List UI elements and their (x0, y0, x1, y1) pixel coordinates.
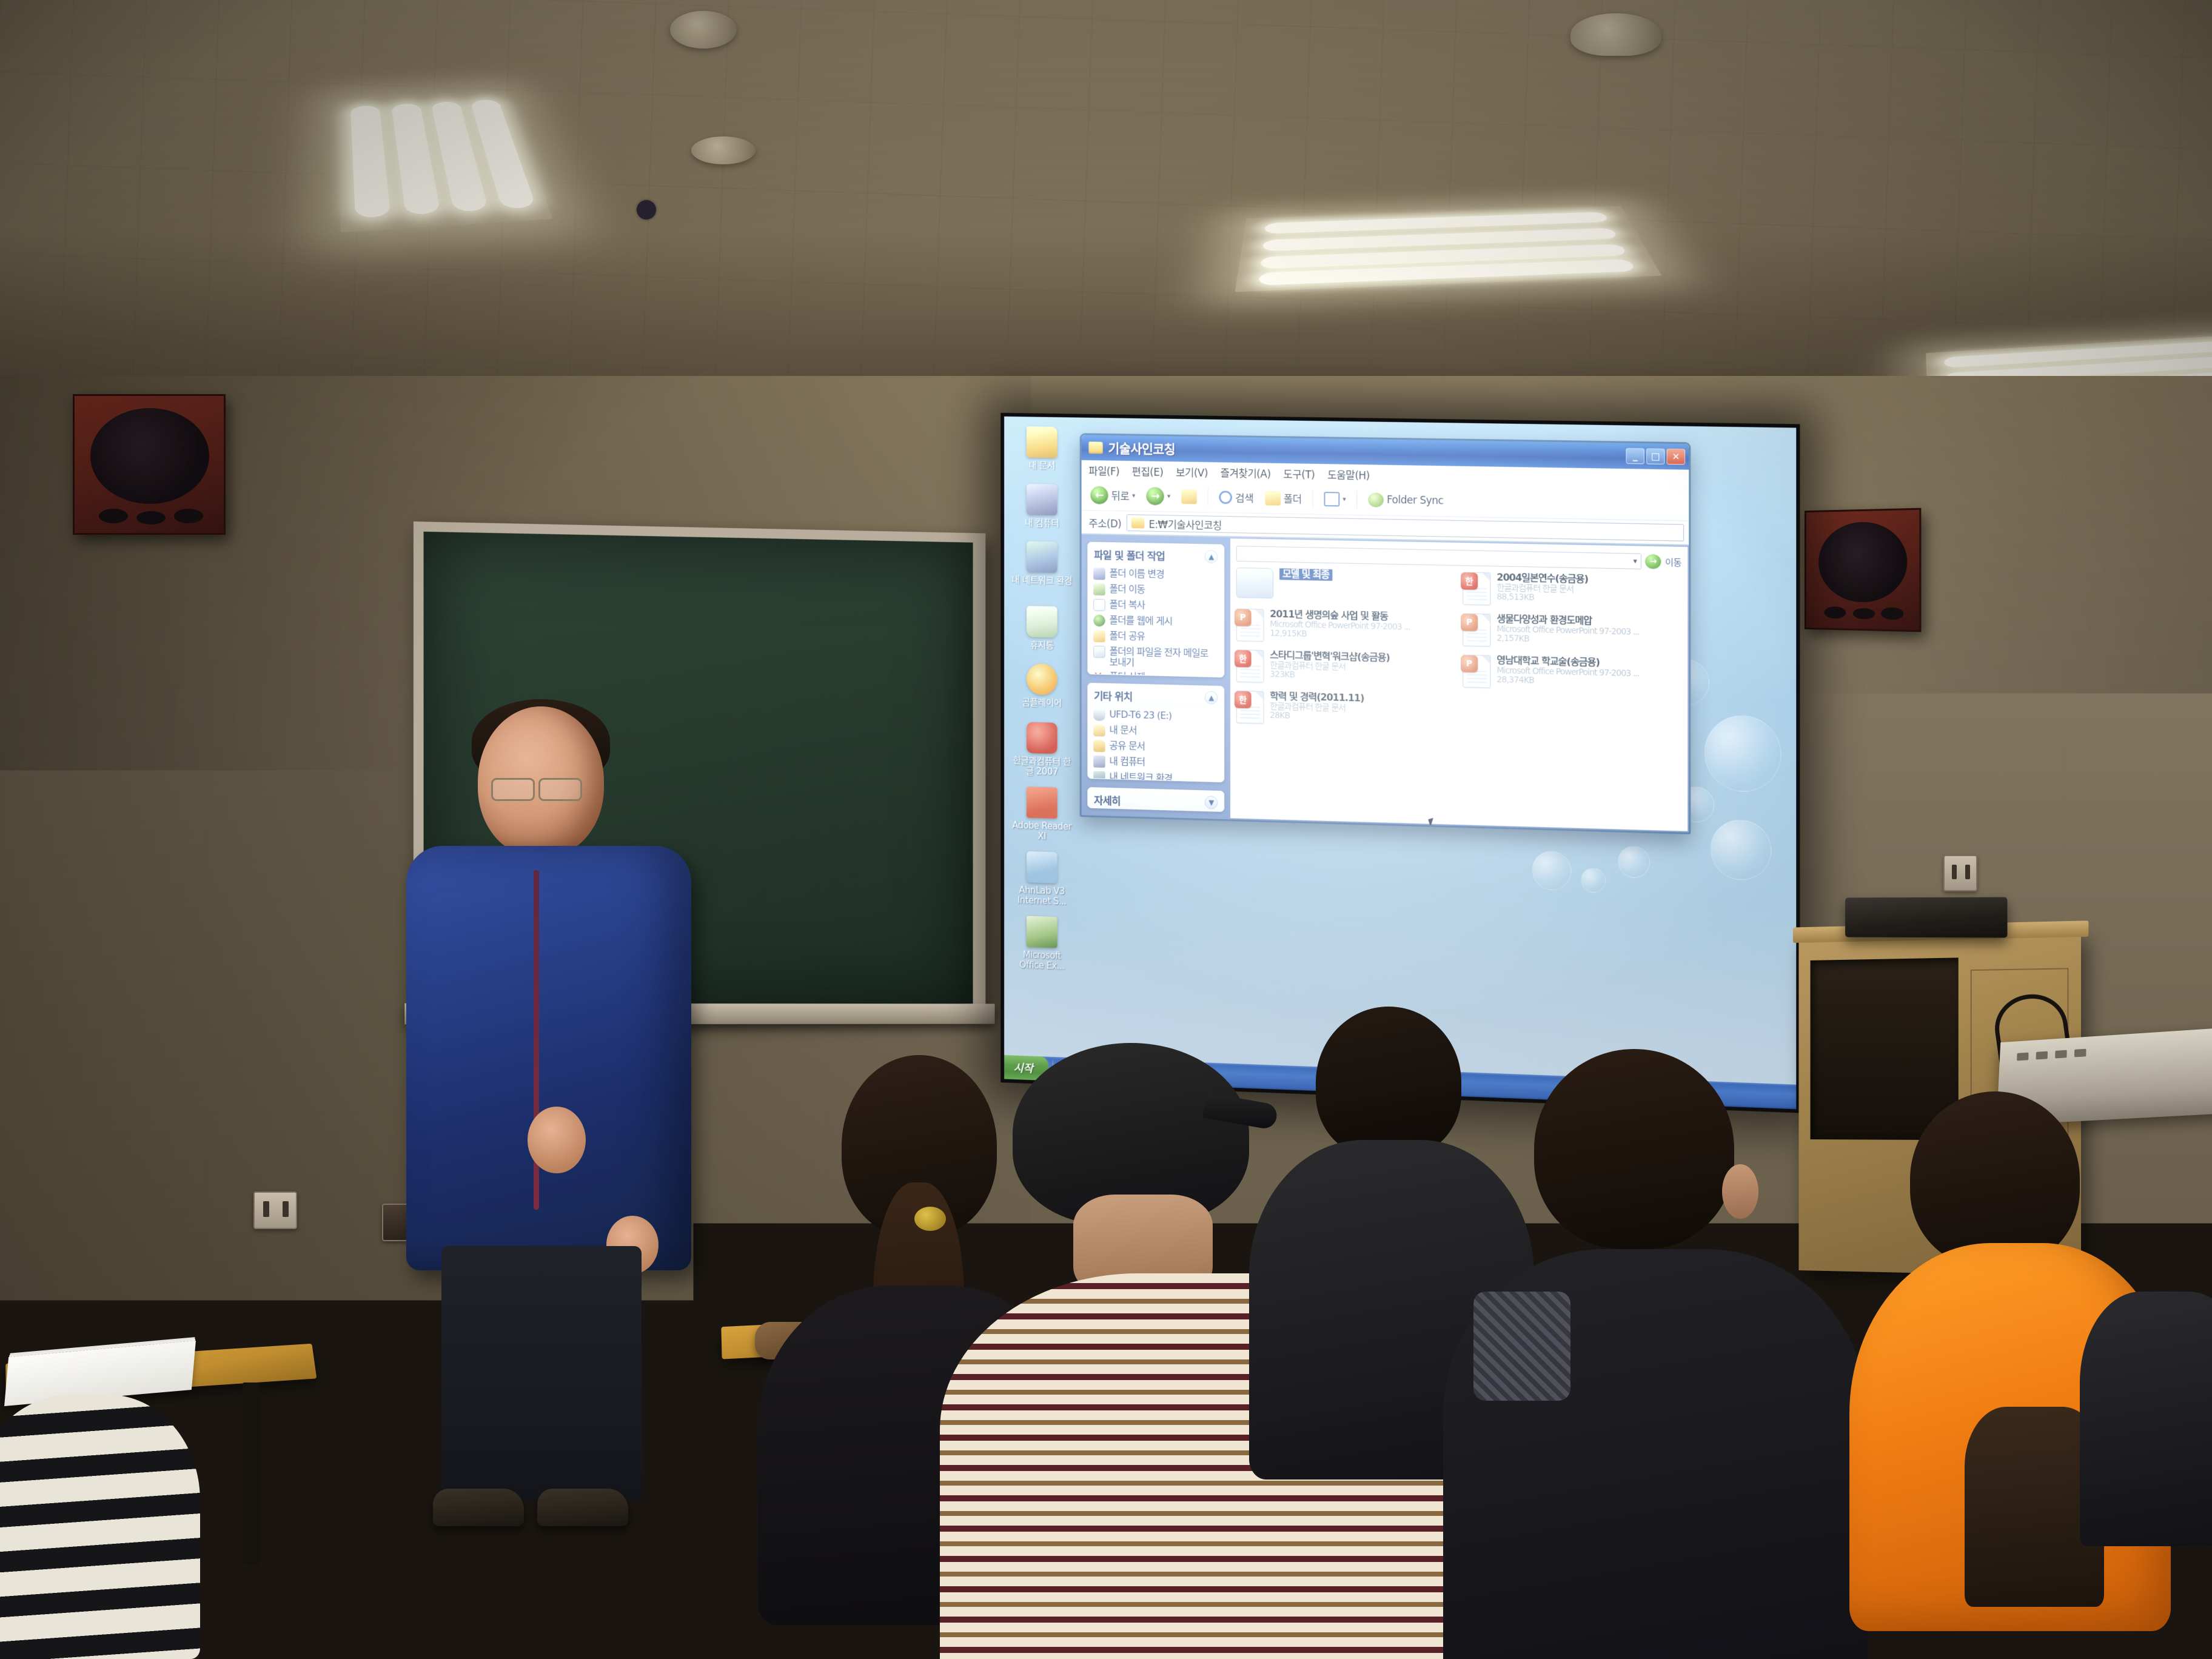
address-value: E:₩기술사인코칭 (1148, 515, 1222, 532)
ceiling-vent-icon (691, 136, 756, 164)
presenter-jacket (406, 846, 691, 1270)
file-item[interactable]: 한 2004일본연수(송금용) 한글과컴퓨터 한글 문서 88,513KB (1463, 572, 1681, 609)
desktop-icon-my-computer[interactable]: 내 컴퓨터 (1010, 483, 1074, 529)
maximize-button[interactable]: □ (1646, 448, 1665, 464)
copy-folder-icon (1093, 599, 1105, 611)
file-item-folder[interactable]: 모델 및 최종 (1236, 568, 1452, 605)
ahnlab-v3-icon (1027, 851, 1057, 883)
start-label: 시작 (1014, 1059, 1033, 1076)
other-places-panel: 기타 위치 ▲ UFD-T6 23 (E:) (1087, 683, 1224, 782)
task-delete-folder[interactable]: ✕ 폴더 삭제 (1093, 671, 1218, 677)
left-wall-speaker (73, 394, 226, 535)
path-combo[interactable]: ▾ (1236, 546, 1641, 569)
right-wall-speaker (1805, 508, 1921, 632)
student-head (1534, 1049, 1734, 1249)
presenter-shoe-left (433, 1489, 524, 1526)
removable-drive-icon (1093, 709, 1105, 721)
file-meta: 영남대학교 학교술(송금용) Microsoft Office PowerPoi… (1496, 655, 1639, 688)
up-button[interactable] (1179, 488, 1200, 506)
menu-item-help[interactable]: 도움말(H) (1327, 466, 1370, 482)
desktop-icon-adobe-reader[interactable]: Adobe Reader XI (1010, 786, 1074, 842)
file-item[interactable]: P 영남대학교 학교술(송금용) Microsoft Office PowerP… (1463, 655, 1681, 693)
laptop-on-podium (1845, 897, 2007, 938)
wall-outlet-right (1943, 855, 1977, 891)
desktop-icon-label: Microsoft Office Ex... (1019, 949, 1065, 971)
file-meta: 학력 및 경력(2011.11) 한글과컴퓨터 한글 문서 28KB (1270, 691, 1364, 723)
place-removable-drive[interactable]: UFD-T6 23 (E:) (1093, 709, 1218, 724)
panel-list: UFD-T6 23 (E:) 내 문서 공유 문서 (1088, 705, 1224, 782)
views-icon (1324, 492, 1339, 506)
desktop-icon-label: 내 문서 (1029, 460, 1055, 471)
file-meta: 스타디그룹'변혁'워크샵(송금용) 한글과컴퓨터 한글 문서 323KB (1270, 650, 1390, 682)
minimize-button[interactable]: _ (1626, 448, 1644, 464)
panel-title: 기타 위치 (1094, 688, 1132, 703)
file-item[interactable]: 한 스타디그룹'변혁'워크샵(송금용) 한글과컴퓨터 한글 문서 323KB (1236, 649, 1452, 687)
desktop-icon-label: 한글과컴퓨터 한글 2007 (1013, 755, 1071, 777)
task-label: 폴더 삭제 (1110, 671, 1145, 677)
address-label: 주소(D) (1088, 515, 1121, 531)
window-body: 파일 및 폴더 작업 ▲ 폴더 이름 변경 (1082, 534, 1689, 832)
folders-button[interactable]: 폴더 (1262, 488, 1305, 508)
details-panel: 자세히 ▼ (1087, 787, 1224, 812)
place-my-documents[interactable]: 내 문서 (1093, 724, 1218, 739)
folders-icon (1265, 491, 1281, 505)
desktop-icon-recycle-bin[interactable]: 휴지통 (1010, 606, 1074, 652)
file-size: 88,513KB (1496, 593, 1588, 604)
place-label: 내 네트워크 환경 (1110, 771, 1173, 782)
window-title: 기술사인코칭 (1108, 439, 1176, 458)
file-meta: 2011년 생명의숲 사업 및 활동 Microsoft Office Powe… (1270, 609, 1410, 642)
place-label: 공유 문서 (1110, 740, 1145, 752)
mouse-cursor-icon (1428, 818, 1436, 827)
folder-sync-icon (1368, 492, 1384, 507)
desktop-icon-my-network[interactable]: 내 네트워크 환경 (1010, 541, 1074, 586)
panel-list: 폴더 이름 변경 폴더 이동 폴더 복사 (1088, 565, 1224, 677)
projection-screen: 내 문서 내 컴퓨터 내 네트워크 환경 휴지통 곰플레이어 (1004, 417, 1796, 1109)
smoke-detector-icon (670, 11, 737, 49)
my-computer-icon (1093, 756, 1105, 768)
powerpoint-document-icon: P (1236, 609, 1264, 642)
panel-header[interactable]: 기타 위치 ▲ (1088, 683, 1224, 709)
place-label: 내 컴퓨터 (1110, 756, 1145, 767)
back-button[interactable]: ← 뒤로 ▾ (1087, 484, 1138, 506)
student-head (1910, 1091, 2080, 1267)
forward-button[interactable]: → ▾ (1144, 485, 1173, 508)
windows-desktop[interactable]: 내 문서 내 컴퓨터 내 네트워크 환경 휴지통 곰플레이어 (1004, 417, 1796, 1109)
student-torso (2080, 1292, 2212, 1546)
rename-icon (1093, 568, 1105, 580)
menu-item-edit[interactable]: 편집(E) (1132, 463, 1164, 479)
close-button[interactable]: ✕ (1667, 449, 1686, 465)
folders-label: 폴더 (1284, 491, 1302, 506)
file-size: 28KB (1270, 711, 1364, 723)
move-folder-icon (1093, 583, 1105, 595)
place-label: UFD-T6 23 (E:) (1110, 709, 1172, 721)
desktop-icon-label: 내 컴퓨터 (1025, 517, 1059, 529)
chevron-up-icon[interactable]: ▲ (1205, 550, 1218, 563)
go-arrow-icon[interactable]: → (1645, 554, 1661, 569)
task-label: 폴더 이동 (1110, 583, 1145, 595)
student-ear (1722, 1164, 1758, 1219)
menu-item-file[interactable]: 파일(F) (1088, 462, 1119, 478)
task-copy-folder[interactable]: 폴더 복사 (1093, 599, 1218, 614)
folder-icon (1088, 441, 1102, 454)
desktop-icon-hancom-hangul[interactable]: 한글과컴퓨터 한글 2007 (1010, 722, 1074, 778)
presenter-hand-right (528, 1107, 586, 1173)
student-head (1316, 1007, 1461, 1158)
my-documents-icon (1093, 724, 1105, 736)
chevron-down-icon[interactable]: ▾ (1167, 492, 1170, 500)
task-label: 폴더의 파일을 전자 메일로 보내기 (1110, 646, 1219, 670)
views-button[interactable]: ▾ (1321, 489, 1349, 508)
file-grid[interactable]: 모델 및 최종 한 2004일본연수(송금용) 한글과컴퓨 (1236, 568, 1681, 734)
desktop-icon-label: 내 네트워크 환경 (1011, 574, 1072, 586)
file-list-area[interactable]: ▾ → 이동 모델 및 최종 (1230, 538, 1687, 831)
chevron-down-icon[interactable]: ▾ (1342, 495, 1346, 503)
task-move-folder[interactable]: 폴더 이동 (1093, 583, 1218, 598)
desktop-icon-label: 휴지통 (1030, 640, 1054, 651)
file-item[interactable]: 한 학력 및 경력(2011.11) 한글과컴퓨터 한글 문서 28KB (1236, 691, 1452, 729)
search-label: 검색 (1235, 490, 1253, 505)
ceiling-marker-icon (637, 200, 656, 220)
desktop-icon-excel[interactable]: Microsoft Office Ex... (1010, 916, 1074, 973)
hair-tie (914, 1207, 946, 1231)
go-label: 이동 (1665, 555, 1681, 569)
task-publish-folder-to-web[interactable]: 폴더를 웹에 게시 (1093, 614, 1218, 629)
my-documents-icon (1027, 426, 1057, 458)
task-label: 폴더 공유 (1110, 631, 1145, 642)
adobe-reader-icon (1027, 786, 1057, 819)
window-controls[interactable]: _ □ ✕ (1626, 448, 1686, 465)
desktop-icon-label: 곰플레이어 (1022, 697, 1062, 708)
desk-leg (243, 1382, 260, 1564)
panel-header[interactable]: 자세히 ▼ (1088, 788, 1224, 812)
my-network-icon (1027, 541, 1057, 573)
back-label: 뒤로 (1111, 488, 1129, 503)
file-meta: 생물다양성과 환경도메압 Microsoft Office PowerPoint… (1496, 614, 1639, 647)
desktop-icon-my-documents[interactable]: 내 문서 (1010, 426, 1074, 472)
desktop-icon-ahnlab-v3[interactable]: AhnLab V3 Internet S... (1010, 851, 1074, 908)
my-computer-icon (1027, 484, 1057, 515)
toolbar-separator (1313, 489, 1313, 508)
desktop-icon-gom-player[interactable]: 곰플레이어 (1010, 663, 1074, 709)
file-item[interactable]: P 2011년 생명의숲 사업 및 활동 Microsoft Office Po… (1236, 609, 1452, 646)
excel-icon (1027, 916, 1057, 948)
hwp-document-icon: 한 (1236, 649, 1264, 683)
place-my-network[interactable]: 내 네트워크 환경 (1093, 771, 1218, 782)
powerpoint-document-icon: P (1463, 655, 1490, 688)
menu-item-view[interactable]: 보기(V) (1176, 464, 1208, 480)
eyeglasses-icon (538, 778, 582, 801)
gom-player-icon (1027, 663, 1057, 695)
chevron-down-icon[interactable]: ▼ (1205, 796, 1218, 809)
folder-sync-label: Folder Sync (1387, 494, 1443, 507)
wall-outlet-left (253, 1191, 297, 1229)
path-combo-row[interactable]: ▾ → 이동 (1236, 546, 1681, 570)
folder-icon (1236, 568, 1273, 598)
panel-title: 파일 및 폴더 작업 (1094, 547, 1165, 563)
eyeglasses-icon (491, 778, 535, 801)
publish-web-icon (1093, 614, 1105, 626)
classroom-scene: 내 문서 내 컴퓨터 내 네트워크 환경 휴지통 곰플레이어 (0, 0, 2212, 1659)
hancom-hangul-icon (1027, 722, 1057, 754)
shared-documents-icon (1093, 740, 1105, 752)
file-name: 모델 및 최종 (1279, 568, 1332, 580)
task-share-folder[interactable]: 폴더 공유 (1093, 630, 1218, 645)
toolbar-separator (1208, 488, 1208, 506)
folder-icon (1131, 517, 1145, 528)
file-meta: 모델 및 최종 (1279, 568, 1332, 580)
place-shared-documents[interactable]: 공유 문서 (1093, 740, 1218, 755)
presenter-shoe-right (537, 1489, 628, 1526)
email-files-icon (1093, 646, 1105, 658)
share-folder-icon (1093, 630, 1105, 642)
plaid-collar (1473, 1292, 1570, 1401)
search-icon (1219, 491, 1233, 504)
panel-title: 자세히 (1094, 792, 1121, 808)
folder-sync-button[interactable]: Folder Sync (1365, 491, 1446, 510)
chevron-up-icon[interactable]: ▲ (1205, 691, 1218, 705)
presenter-trousers (441, 1246, 642, 1501)
delete-icon: ✕ (1093, 671, 1105, 677)
task-email-folder-files[interactable]: 폴더의 파일을 전자 메일로 보내기 (1093, 646, 1218, 670)
file-item[interactable]: P 생물다양성과 환경도메압 Microsoft Office PowerPoi… (1463, 613, 1681, 651)
back-arrow-icon: ← (1090, 486, 1108, 504)
file-meta: 2004일본연수(송금용) 한글과컴퓨터 한글 문서 88,513KB (1496, 572, 1588, 603)
ceiling-dome-icon (1570, 13, 1661, 56)
panel-header[interactable]: 파일 및 폴더 작업 ▲ (1088, 543, 1224, 568)
recycle-bin-icon (1027, 606, 1057, 637)
task-label: 폴더를 웹에 게시 (1110, 615, 1173, 627)
toolbar-separator (1356, 490, 1357, 508)
task-label: 폴더 복사 (1110, 599, 1145, 611)
explorer-window[interactable]: 기술사인코칭 _ □ ✕ 파일(F) 편집(E) 보기(V) 즐겨찾기(A) 도… (1080, 433, 1691, 834)
hwp-document-icon: 한 (1463, 572, 1490, 605)
search-button[interactable]: 검색 (1216, 488, 1256, 507)
hwp-document-icon: 한 (1236, 691, 1264, 724)
menu-item-tools[interactable]: 도구(T) (1283, 466, 1315, 481)
place-my-computer[interactable]: 내 컴퓨터 (1093, 756, 1218, 771)
task-label: 폴더 이름 변경 (1110, 568, 1164, 580)
powerpoint-document-icon: P (1463, 613, 1490, 646)
chevron-down-icon[interactable]: ▾ (1132, 492, 1135, 500)
place-label: 내 문서 (1110, 725, 1137, 736)
forward-arrow-icon: → (1147, 487, 1164, 505)
student-torso (0, 1395, 200, 1659)
desktop-icon-label: AhnLab V3 Internet S... (1017, 885, 1067, 907)
task-rename-folder[interactable]: 폴더 이름 변경 (1093, 568, 1218, 582)
file-folder-tasks-panel: 파일 및 폴더 작업 ▲ 폴더 이름 변경 (1087, 541, 1224, 677)
menu-item-favorites[interactable]: 즐겨찾기(A) (1221, 464, 1271, 480)
desktop-icon-label: Adobe Reader XI (1012, 820, 1071, 842)
file-name: 2004일본연수(송금용) (1496, 572, 1588, 585)
my-network-icon (1093, 771, 1105, 782)
up-folder-icon (1182, 489, 1198, 504)
explorer-sidebar: 파일 및 폴더 작업 ▲ 폴더 이름 변경 (1082, 534, 1230, 819)
